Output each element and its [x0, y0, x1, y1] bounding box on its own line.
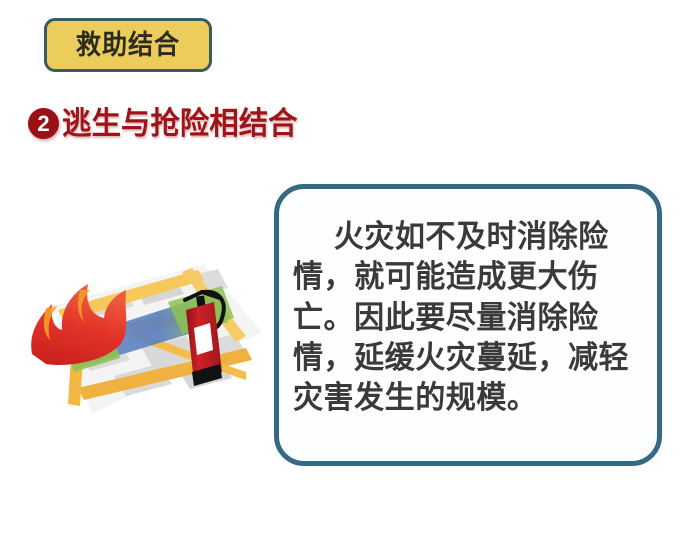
heading-title-text: 逃生与抢险相结合 — [62, 108, 298, 139]
extinguisher-label — [194, 323, 213, 355]
info-callout-box: 火灾如不及时消除险情，就可能造成更大伤亡。因此要尽量消除险情，延缓火灾蔓延，减轻… — [274, 184, 662, 466]
section-badge: 救助结合 — [44, 18, 212, 72]
fire-map-illustration — [22, 246, 262, 446]
callout-body-text: 火灾如不及时消除险情，就可能造成更大伤亡。因此要尽量消除险情，延缓火灾蔓延，减轻… — [293, 217, 634, 418]
section-badge-label: 救助结合 — [76, 32, 180, 59]
heading-number-badge: 2 — [28, 108, 59, 139]
page-title: 2 逃生与抢险相结合 — [28, 108, 310, 139]
